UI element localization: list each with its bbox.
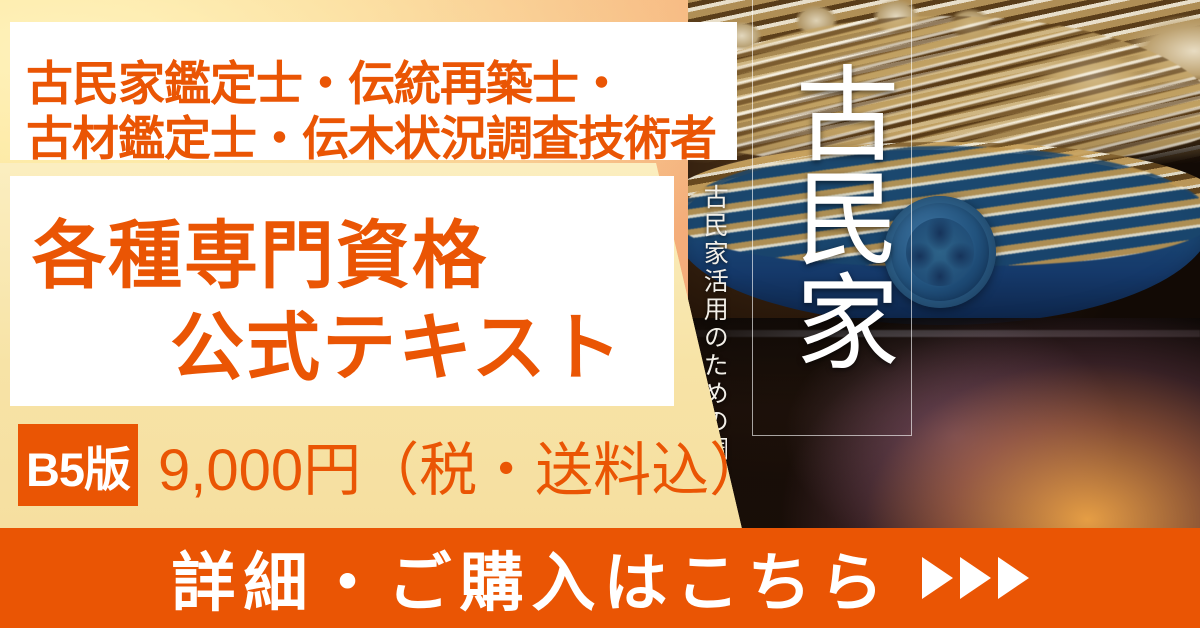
family-crest-inner bbox=[906, 218, 974, 286]
price-text: 9,000円（税・送料込） bbox=[158, 423, 767, 507]
headline-line-1: 各種専門資格 bbox=[32, 196, 488, 303]
cover-title: 古民家 bbox=[766, 6, 896, 426]
cta-arrows bbox=[922, 557, 1029, 599]
triangle-right-icon bbox=[960, 557, 991, 599]
cta-label[interactable]: 詳細・ご購入はこちら bbox=[172, 532, 892, 624]
headline-line-2: 公式テキスト bbox=[170, 288, 624, 395]
format-badge: B5版 bbox=[18, 424, 138, 506]
main-headline-box: 各種専門資格 公式テキスト bbox=[10, 176, 674, 406]
qualifications-header-box: 古民家鑑定士・伝統再築士・ 古材鑑定士・伝木状況調査技術者 bbox=[10, 22, 737, 160]
promo-banner: 古民家 伝統構法 古民家活用のための調査と再生の 古民家鑑定士・伝統再築士・ 古… bbox=[0, 0, 1200, 628]
price-row: B5版 9,000円（税・送料込） bbox=[18, 424, 767, 506]
triangle-right-icon bbox=[922, 557, 953, 599]
qualifications-line-2: 古材鑑定士・伝木状況調査技術者 bbox=[26, 100, 716, 169]
cta-bar[interactable]: 詳細・ご購入はこちら bbox=[0, 528, 1200, 628]
triangle-right-icon bbox=[998, 557, 1029, 599]
